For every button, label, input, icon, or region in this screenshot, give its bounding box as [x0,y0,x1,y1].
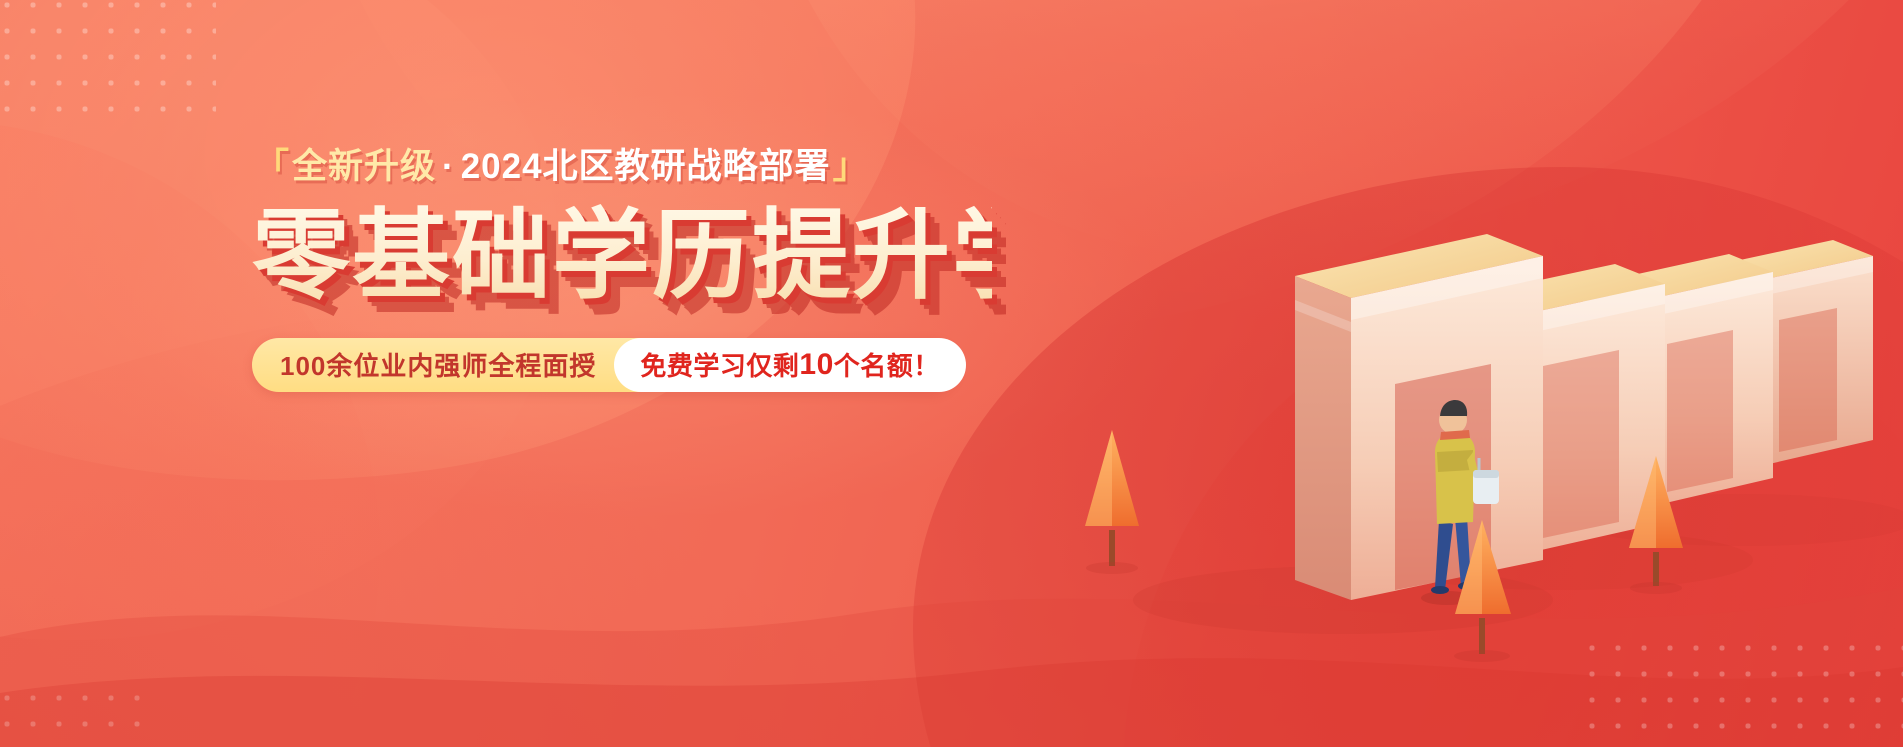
dot-pattern-top-left [0,0,216,112]
badge-teachers-label: 100余位业内强师全程面授 [280,346,596,383]
dot-pattern-bottom-right [1579,635,1903,747]
banner-subtitle: 「全新升级·2024北区教研战略部署」 [252,146,992,188]
promo-banner: 「全新升级·2024北区教研战略部署」 零基础学历提升学霸班 100余位业内强师… [0,0,1903,747]
dot-pattern-bottom-left [0,685,144,747]
subtitle-open-bracket: 「 [254,147,290,186]
subtitle-separator: · [436,147,461,186]
badge-seats-remaining[interactable]: 免费学习仅剩10个名额！ [614,338,965,392]
banner-badge-group: 100余位业内强师全程面授 免费学习仅剩10个名额！ [252,338,957,392]
banner-headline: 零基础学历提升学霸班 [252,204,992,308]
badge-seats-number: 10 [799,348,833,382]
badge-seats-suffix: 个名额！ [834,346,940,383]
subtitle-close-bracket: 」 [833,147,869,186]
badge-seats-prefix: 免费学习仅剩 [640,346,799,383]
banner-text-block: 「全新升级·2024北区教研战略部署」 零基础学历提升学霸班 100余位业内强师… [252,146,992,392]
subtitle-rest: 2024北区教研战略部署 [461,147,831,186]
subtitle-highlight: 全新升级 [292,147,436,186]
